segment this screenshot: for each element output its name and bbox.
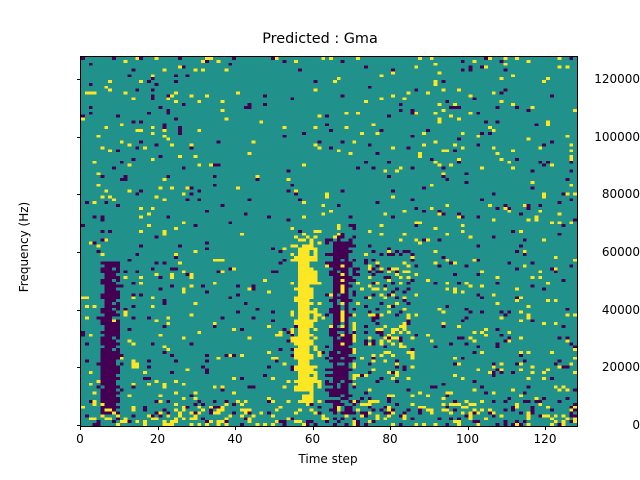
matplotlib-figure: Predicted : Gma 020000400006000080000100… — [0, 0, 640, 480]
x-tick-label: 40 — [227, 432, 242, 446]
y-tick-label: 0 — [572, 418, 640, 432]
y-tick-label: 40000 — [572, 303, 640, 317]
x-tick-label: 120 — [534, 432, 557, 446]
heatmap-plot-area — [80, 56, 578, 427]
x-tick-label: 0 — [76, 432, 84, 446]
y-tick-label: 100000 — [572, 130, 640, 144]
x-tick-label: 80 — [382, 432, 397, 446]
y-tick-label: 20000 — [572, 360, 640, 374]
x-tick-label: 20 — [150, 432, 165, 446]
x-tick-label: 60 — [305, 432, 320, 446]
heatmap-image — [81, 57, 577, 426]
y-tick-label: 80000 — [572, 187, 640, 201]
x-tick-label: 100 — [456, 432, 479, 446]
x-axis-label: Time step — [80, 452, 576, 466]
y-tick-label: 120000 — [572, 72, 640, 86]
page-title: Predicted : Gma — [0, 31, 640, 47]
y-tick-label: 60000 — [572, 245, 640, 259]
y-axis-label: Frequency (Hz) — [17, 147, 31, 347]
